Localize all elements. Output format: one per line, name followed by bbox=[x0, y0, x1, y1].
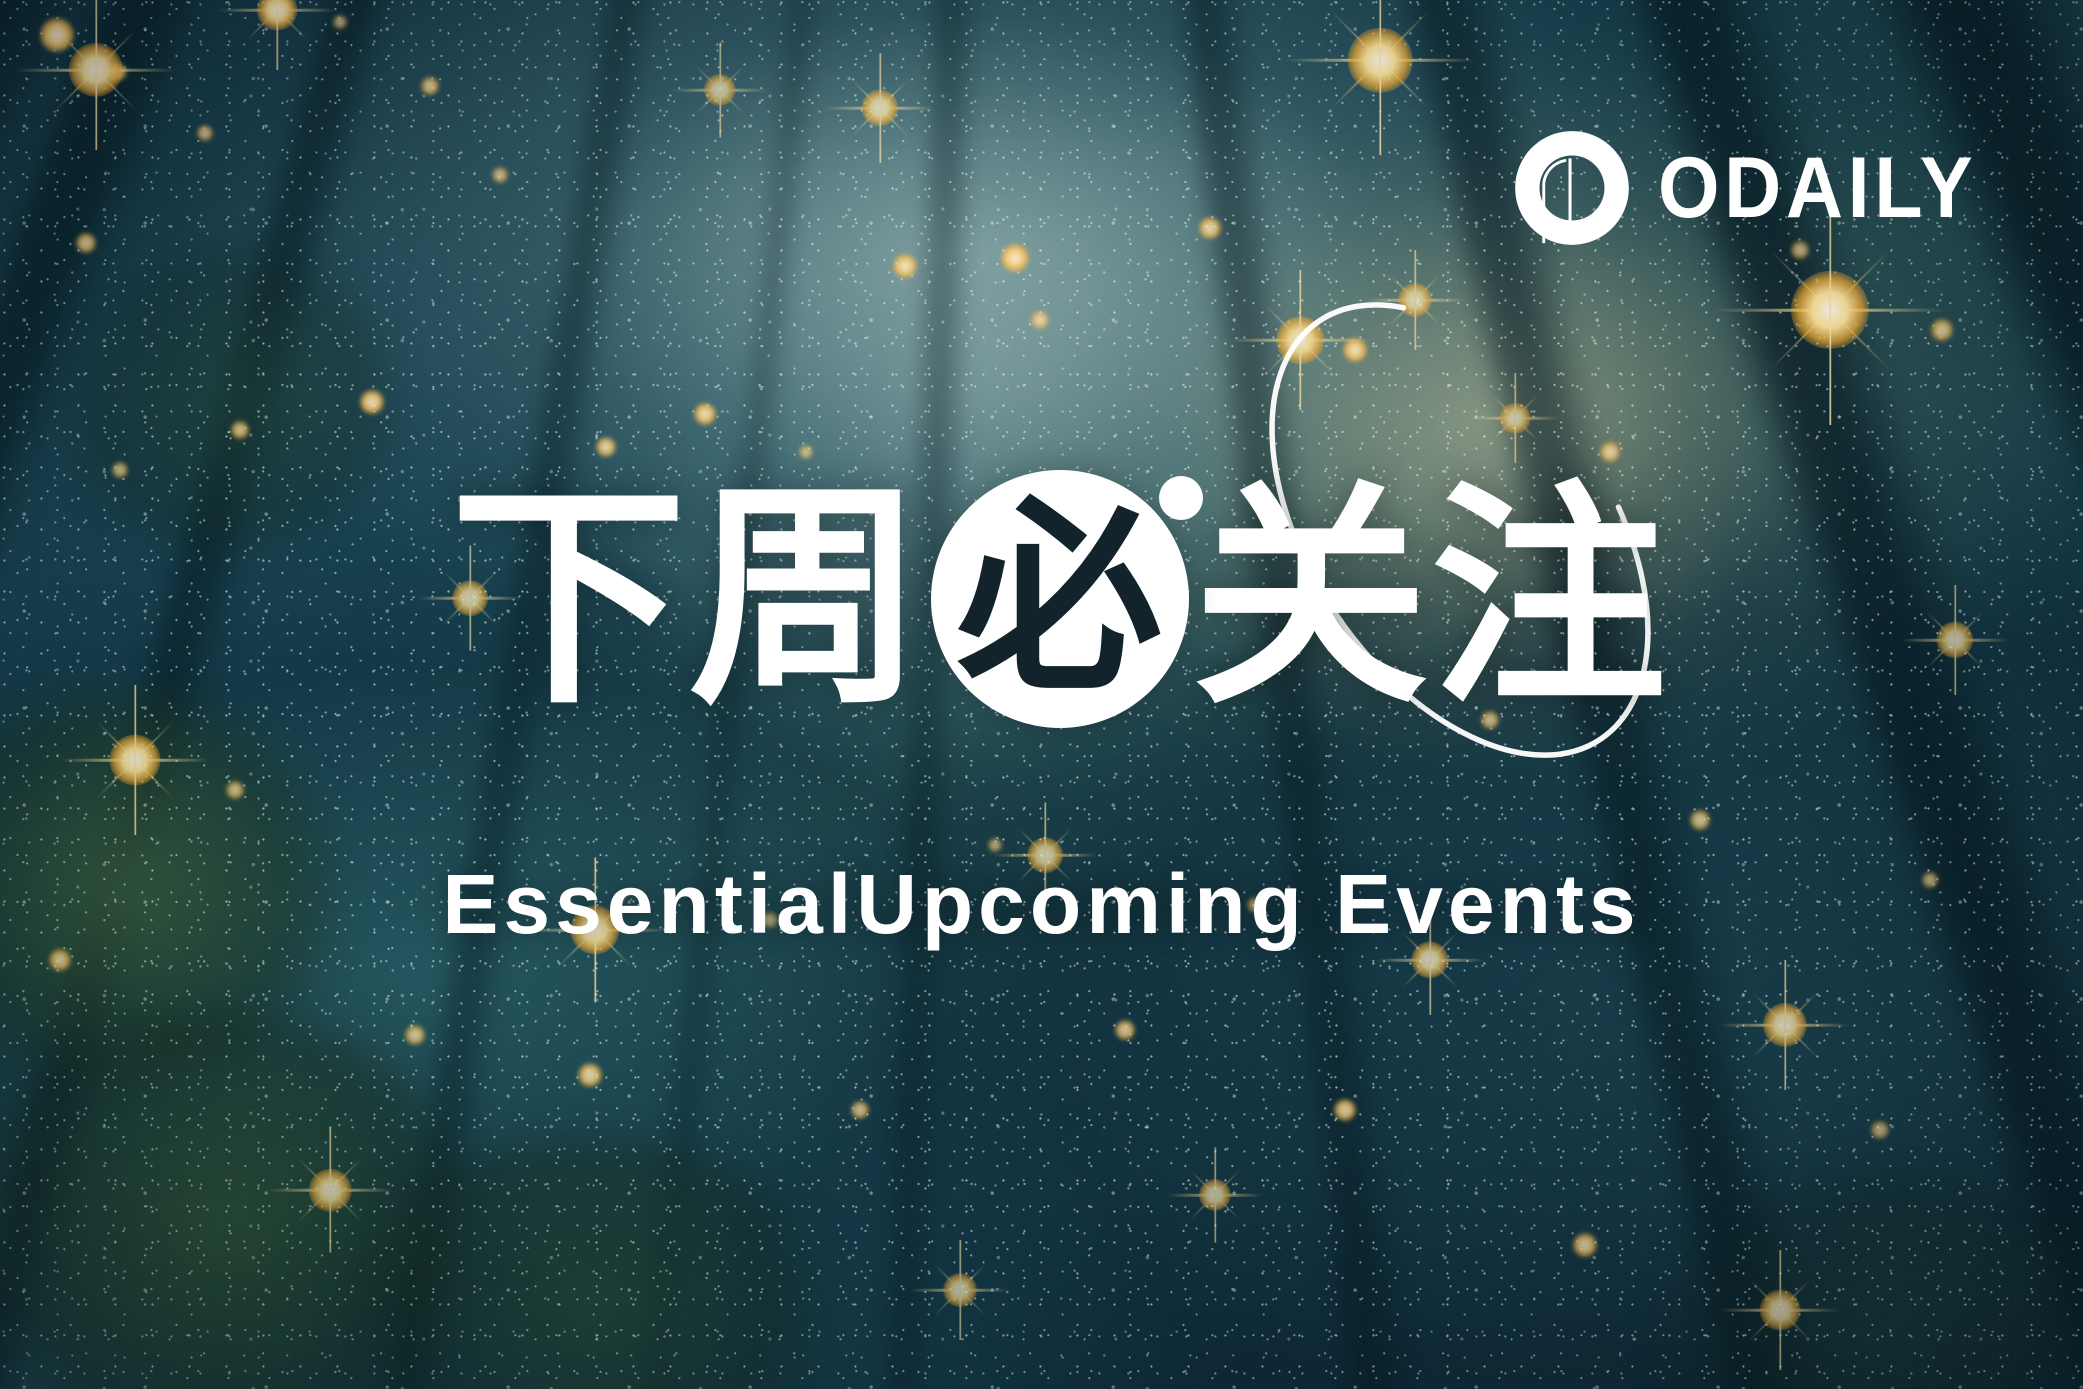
starburst bbox=[993, 803, 1098, 908]
bokeh-light bbox=[231, 421, 249, 439]
bokeh-light bbox=[799, 445, 813, 459]
bokeh-light bbox=[1115, 1020, 1135, 1040]
starburst bbox=[1375, 905, 1485, 1015]
odaily-logo[interactable]: ODAILY bbox=[1514, 130, 2005, 246]
bokeh-light bbox=[1871, 1121, 1889, 1139]
bokeh-light bbox=[596, 437, 616, 457]
starburst bbox=[1720, 1250, 1840, 1370]
bokeh-light bbox=[1600, 442, 1620, 462]
starburst bbox=[1168, 1148, 1263, 1243]
bokeh-light bbox=[197, 125, 213, 141]
starburst bbox=[60, 685, 210, 835]
starburst bbox=[1285, 0, 1475, 155]
bokeh-light bbox=[1247, 897, 1263, 913]
bokeh-light bbox=[762, 912, 778, 928]
bokeh-light bbox=[578, 1063, 602, 1087]
odaily-circle-mark-icon bbox=[1514, 130, 1630, 246]
starburst bbox=[217, 0, 337, 70]
bokeh-light bbox=[492, 167, 508, 183]
promo-banner: ODAILY 下周 必 关注 EssentialUpcoming Events bbox=[0, 0, 2083, 1389]
starburst bbox=[1230, 270, 1370, 410]
bokeh-light bbox=[1922, 872, 1938, 888]
bokeh-light bbox=[1199, 217, 1221, 239]
starburst bbox=[1720, 960, 1850, 1090]
bokeh-light bbox=[226, 781, 244, 799]
bokeh-light bbox=[851, 1101, 869, 1119]
bokeh-light bbox=[1481, 711, 1499, 729]
bokeh-light bbox=[1001, 244, 1029, 272]
starburst bbox=[673, 43, 768, 138]
bokeh-light bbox=[1334, 1099, 1356, 1121]
odaily-wordmark: ODAILY bbox=[1658, 145, 1977, 231]
starburst bbox=[418, 546, 523, 651]
bokeh-light bbox=[76, 233, 96, 253]
starburst bbox=[825, 53, 935, 163]
bokeh-light bbox=[360, 390, 384, 414]
bokeh-light bbox=[405, 1025, 425, 1045]
starburst bbox=[268, 1128, 393, 1253]
bokeh-light bbox=[1031, 311, 1049, 329]
starburst bbox=[910, 1240, 1010, 1340]
bokeh-light bbox=[694, 403, 716, 425]
starburst bbox=[1900, 585, 2010, 695]
bokeh-light bbox=[893, 254, 917, 278]
starburst bbox=[1365, 250, 1465, 350]
bokeh-light bbox=[112, 462, 128, 478]
bokeh-light bbox=[1690, 810, 1710, 830]
starburst bbox=[16, 0, 176, 150]
starburst bbox=[523, 858, 668, 1003]
bokeh-light bbox=[1573, 1233, 1597, 1257]
bokeh-light bbox=[421, 77, 439, 95]
starburst bbox=[1470, 373, 1560, 463]
bokeh-light bbox=[49, 949, 71, 971]
